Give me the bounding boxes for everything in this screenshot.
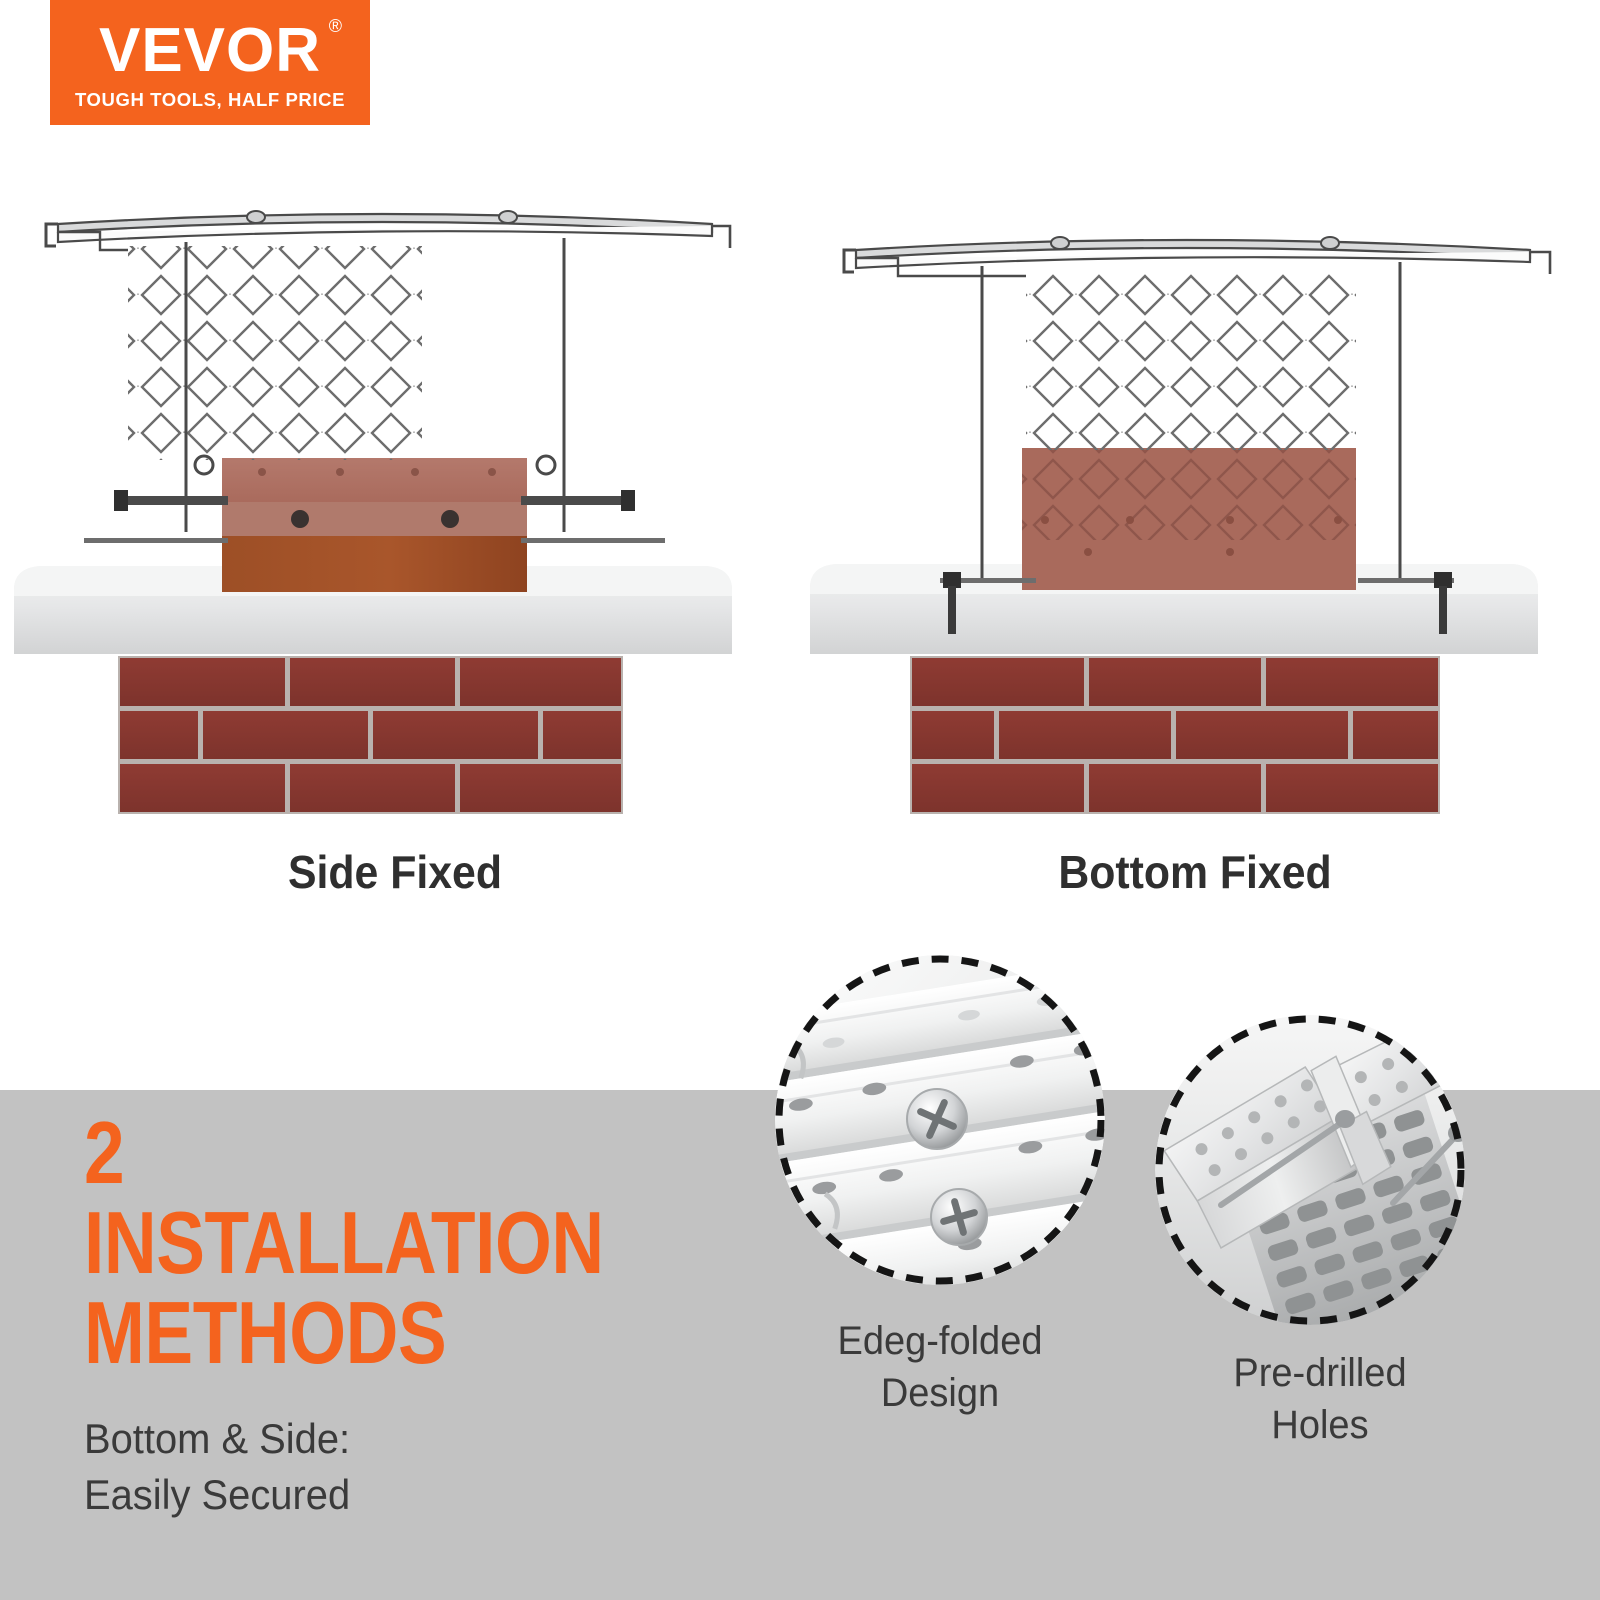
headline-block: 2 INSTALLATION METHODS Bottom & Side: Ea… <box>84 1108 724 1522</box>
brand-wordmark-text: VEVOR <box>99 16 321 85</box>
feature-caption-pre-drilled: Pre-drilled Holes <box>1163 1347 1477 1451</box>
feature-caption-edge-folded: Edeg-folded Design <box>783 1315 1097 1419</box>
mesh-screen <box>128 246 422 460</box>
vevor-logo: VEVOR ® TOUGH TOOLS, HALF PRICE <box>50 0 370 125</box>
phillips-screw <box>931 1189 987 1245</box>
caption-bottom-fixed: Bottom Fixed <box>828 845 1563 899</box>
feature-pre-drilled: Pre-drilled Holes <box>1155 1015 1485 1451</box>
registered-trademark-icon: ® <box>329 18 343 35</box>
feature-circle-pre-drilled <box>1155 1015 1465 1325</box>
photo-edge-folded-design <box>775 955 1105 1285</box>
feature-circle-edge-folded <box>775 955 1105 1285</box>
diagram-bottom-fixed <box>800 180 1590 820</box>
subhead: Bottom & Side: Easily Secured <box>84 1411 692 1522</box>
cap-lid <box>844 237 1550 276</box>
phillips-screw <box>907 1089 967 1149</box>
brick-masonry <box>118 656 623 814</box>
caption-side-fixed: Side Fixed <box>28 845 763 899</box>
headline: 2 INSTALLATION METHODS <box>84 1108 615 1377</box>
photo-pre-drilled-holes <box>1155 1015 1465 1325</box>
feature-edge-folded: Edeg-folded Design <box>775 955 1105 1419</box>
brick-masonry <box>910 656 1440 814</box>
flue-tile <box>1022 448 1356 590</box>
diagram-side-fixed <box>0 180 790 820</box>
brand-wordmark: VEVOR ® <box>99 22 321 81</box>
mesh-screen <box>1026 272 1356 450</box>
flue-tile <box>222 458 527 592</box>
cap-lid <box>46 211 730 250</box>
brand-tagline: TOUGH TOOLS, HALF PRICE <box>75 89 345 111</box>
